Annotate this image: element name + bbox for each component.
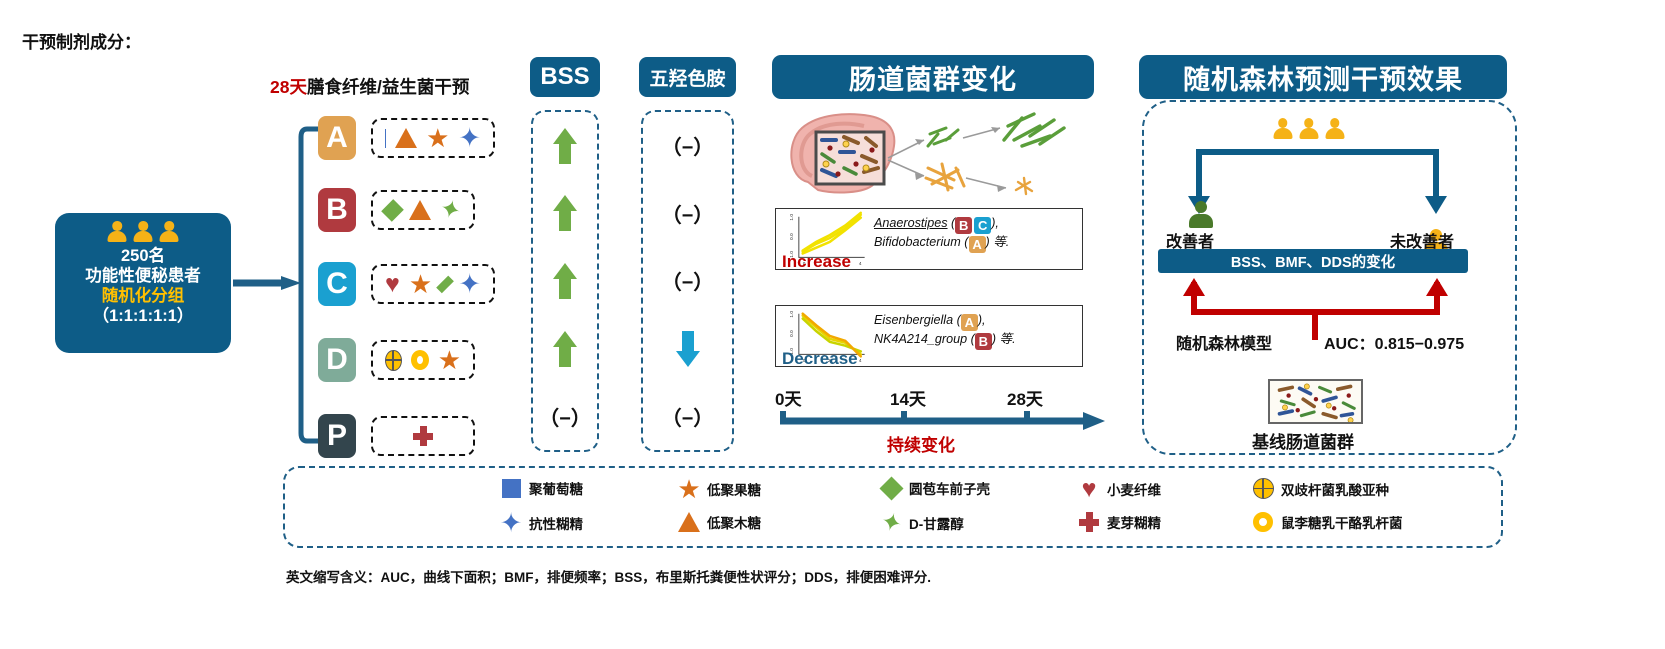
legend-label: 双歧杆菌乳酸亚种 <box>1281 479 1389 499</box>
group-badge-B: B <box>318 188 356 232</box>
d-mannitol-icon: ✦ <box>878 510 904 537</box>
up-arrow-icon <box>552 193 578 233</box>
legend-item-wheat-fiber: ♥小麦纤维 <box>1078 478 1161 500</box>
fructooligosaccharide-icon: ★ <box>677 478 700 500</box>
legend-item-resistant-dextrin: ✦抗性糊精 <box>500 512 583 534</box>
psyllium-husk-symbol-icon <box>436 275 454 293</box>
legend-item-bifidobacterium-lactis: 双歧杆菌乳酸亚种 <box>1252 478 1389 499</box>
legend-swatch <box>1252 478 1274 499</box>
group-formula-A: ★✦ <box>371 118 495 158</box>
timeline-axis <box>775 407 1105 433</box>
legend-label: D-甘露醇 <box>909 513 964 533</box>
d-mannitol-symbol-icon: ✦ <box>438 197 464 224</box>
bss-cell-4: （−） <box>533 382 597 450</box>
resistant-dextrin-symbol-icon: ✦ <box>458 127 481 149</box>
fructooligosaccharide-symbol-icon: ★ <box>409 273 432 295</box>
bss-column-header: BSS <box>530 57 600 97</box>
microbiota-panel-header: 肠道菌群变化 <box>772 55 1094 99</box>
sero-cell-1: （−） <box>643 180 732 248</box>
decrease-taxa-text: Eisenbergiella (A), NK4A214_group (B) 等. <box>872 306 1082 366</box>
legend-title: 干预制剂成分： <box>22 28 141 53</box>
decrease-taxa-box: 1.0 0.0 -1.0 024 Eisenbergiella (A), NK4… <box>775 305 1083 367</box>
cohort-population: 功能性便秘患者 <box>85 266 201 286</box>
rf-auc-label: AUC：0.815−0.975 <box>1324 330 1464 354</box>
psyllium-husk-icon <box>879 476 903 500</box>
legend-item-d-mannitol: ✦D-甘露醇 <box>880 512 964 534</box>
group-badge-D: D <box>318 338 356 382</box>
group-badge-P: P <box>318 414 356 458</box>
legend-label: 抗性糊精 <box>529 513 583 533</box>
group-formula-B: ✦ <box>371 190 475 230</box>
increase-taxon-2: Bifidobacterium (A) 等. <box>874 234 1078 253</box>
bss-column-box: （−） <box>531 110 599 452</box>
legend-label: 小麦纤维 <box>1107 479 1161 499</box>
random-forest-panel-header: 随机森林预测干预效果 <box>1139 55 1507 99</box>
svg-text:4: 4 <box>859 261 862 267</box>
rf-cohort-icon <box>1272 118 1345 140</box>
legend-item-polydextrose: 聚葡萄糖 <box>500 478 583 498</box>
polydextrose-symbol-icon <box>385 129 386 148</box>
legend-label: 圆苞车前子壳 <box>909 478 990 498</box>
group-badge-C: C <box>318 262 356 306</box>
legend-swatch: ✦ <box>500 512 522 534</box>
svg-text:0.0: 0.0 <box>789 330 795 337</box>
rf-split-arrows <box>1185 142 1450 214</box>
up-arrow-icon <box>552 126 578 166</box>
xylooligosaccharide-symbol-icon <box>395 128 417 148</box>
svg-text:1.0: 1.0 <box>789 311 795 318</box>
decrease-taxon-2: NK4A214_group (B) 等. <box>874 331 1078 350</box>
xylooligosaccharide-icon <box>678 512 700 532</box>
wheat-fiber-symbol-icon: ♥ <box>385 273 400 295</box>
legend-item-maltodextrin: 麦芽糊精 <box>1078 512 1161 532</box>
intervention-duration: 28天 <box>270 77 307 97</box>
svg-text:0.0: 0.0 <box>789 233 795 240</box>
group-formula-C: ♥★✦ <box>371 264 495 304</box>
legend-swatch <box>880 480 902 497</box>
fructooligosaccharide-symbol-icon: ★ <box>426 127 449 149</box>
increase-taxa-box: 1.0 0.0 -1.0 024 Anaerostipes (BC), Bifi… <box>775 208 1083 270</box>
legend-label: 低聚果糖 <box>707 479 761 499</box>
legend-label: 麦芽糊精 <box>1107 512 1161 532</box>
serotonin-column-header: 五羟色胺 <box>639 57 736 97</box>
polydextrose-icon <box>502 479 521 498</box>
intervention-title-text: 膳食纤维/益生菌干预 <box>307 77 469 97</box>
bifidobacterium-lactis-icon <box>1253 478 1274 499</box>
maltodextrin-icon <box>1079 512 1099 532</box>
resistant-dextrin-symbol-icon: ✦ <box>458 273 481 295</box>
bss-cell-1 <box>533 180 597 248</box>
legend-label: 鼠李糖乳干酪乳杆菌 <box>1281 512 1403 532</box>
wheat-fiber-icon: ♥ <box>1082 478 1097 500</box>
colon-illustration <box>778 106 1078 198</box>
cohort-box: 250名 功能性便秘患者 随机化分组 （1:1:1:1:1） <box>55 213 231 353</box>
baseline-label: 基线肠道菌群 <box>1252 428 1354 453</box>
legend-label: 低聚木糖 <box>707 512 761 532</box>
group-formula-D: ★ <box>371 340 475 380</box>
decrease-label: Decrease <box>782 349 858 369</box>
up-arrow-icon <box>552 261 578 301</box>
sero-cell-2: （−） <box>643 247 732 315</box>
svg-text:1.0: 1.0 <box>789 214 795 221</box>
legend-label: 聚葡萄糖 <box>529 478 583 498</box>
lactobacillus-rhamnosus-casei-icon <box>1253 512 1273 532</box>
legend-swatch <box>1078 512 1100 532</box>
microbiota-swatch <box>1268 379 1363 424</box>
maltodextrin-symbol-icon <box>413 426 433 446</box>
responder-icon <box>1188 201 1214 229</box>
group-badge-A: A <box>318 116 356 160</box>
legend-item-xylooligosaccharide: 低聚木糖 <box>678 512 761 532</box>
sero-cell-3 <box>643 315 732 383</box>
decrease-taxon-1: Eisenbergiella (A), <box>874 312 1078 331</box>
bss-cell-3 <box>533 315 597 383</box>
svg-text:4: 4 <box>859 358 862 364</box>
down-arrow-icon <box>675 329 701 369</box>
legend-item-lactobacillus-rhamnosus-casei: 鼠李糖乳干酪乳杆菌 <box>1252 512 1403 532</box>
intervention-title: 28天膳食纤维/益生菌干预 <box>270 74 469 99</box>
fructooligosaccharide-symbol-icon: ★ <box>438 349 461 371</box>
cohort-to-groups-arrow <box>233 275 301 291</box>
psyllium-husk-symbol-icon <box>381 199 404 222</box>
legend-item-fructooligosaccharide: ★低聚果糖 <box>678 478 761 500</box>
group-formula-P <box>371 416 475 456</box>
bifidobacterium-lactis-symbol-icon <box>385 350 402 371</box>
cohort-count: 250名 <box>121 246 165 266</box>
abbreviation-footnote: 英文缩写含义：AUC，曲线下面积；BMF，排便频率；BSS，布里斯托粪便性状评分… <box>286 566 931 586</box>
legend-swatch: ★ <box>678 478 700 500</box>
xylooligosaccharide-symbol-icon <box>409 200 431 220</box>
cohort-ratio: （1:1:1:1:1） <box>93 306 194 326</box>
increase-label: Increase <box>782 252 851 272</box>
study-timeline: 0天 14天 28天 持续变化 <box>775 385 1105 447</box>
bss-cell-2 <box>533 247 597 315</box>
three-people-icon <box>107 221 180 243</box>
serotonin-column-box: （−）（−）（−）（−） <box>641 110 734 452</box>
legend-swatch <box>678 512 700 532</box>
rf-model-label: 随机森林模型 <box>1176 330 1272 354</box>
bss-cell-0 <box>533 112 597 180</box>
resistant-dextrin-icon: ✦ <box>500 512 523 534</box>
legend-swatch <box>1252 512 1274 532</box>
timeline-caption: 持续变化 <box>887 431 955 456</box>
cohort-randomization: 随机化分组 <box>102 286 185 306</box>
lactobacillus-rhamnosus-casei-symbol-icon <box>411 350 429 370</box>
legend-swatch <box>500 479 522 498</box>
legend-item-psyllium-husk: 圆苞车前子壳 <box>880 478 990 498</box>
up-arrow-icon <box>552 329 578 369</box>
legend-swatch: ✦ <box>880 512 902 534</box>
rf-metric-bar: BSS、BMF、DDS的变化 <box>1158 249 1468 273</box>
sero-cell-4: （−） <box>643 382 732 450</box>
sero-cell-0: （−） <box>643 112 732 180</box>
legend-swatch: ♥ <box>1078 478 1100 500</box>
increase-taxon-1: Anaerostipes (BC), <box>874 215 1078 234</box>
increase-taxa-text: Anaerostipes (BC), Bifidobacterium (A) 等… <box>872 209 1082 269</box>
